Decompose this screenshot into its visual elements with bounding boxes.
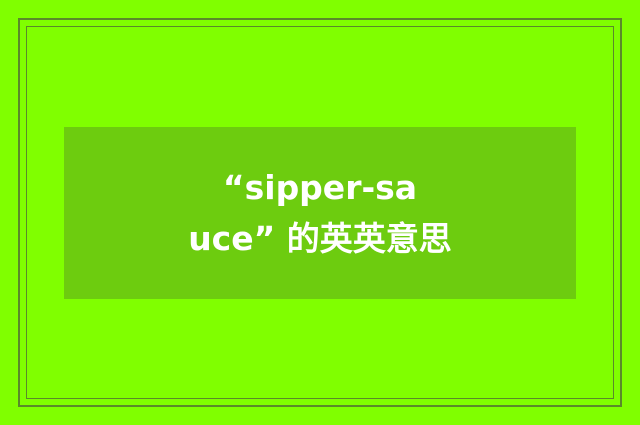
- page-title-line-1: “sipper-sa: [78, 162, 562, 213]
- page-title-line-2: uce” 的英英意思: [78, 213, 562, 264]
- title-card: “sipper-sa uce” 的英英意思: [64, 127, 576, 299]
- page-title: “sipper-sa uce” 的英英意思: [64, 162, 576, 264]
- page-canvas: “sipper-sa uce” 的英英意思: [0, 0, 640, 425]
